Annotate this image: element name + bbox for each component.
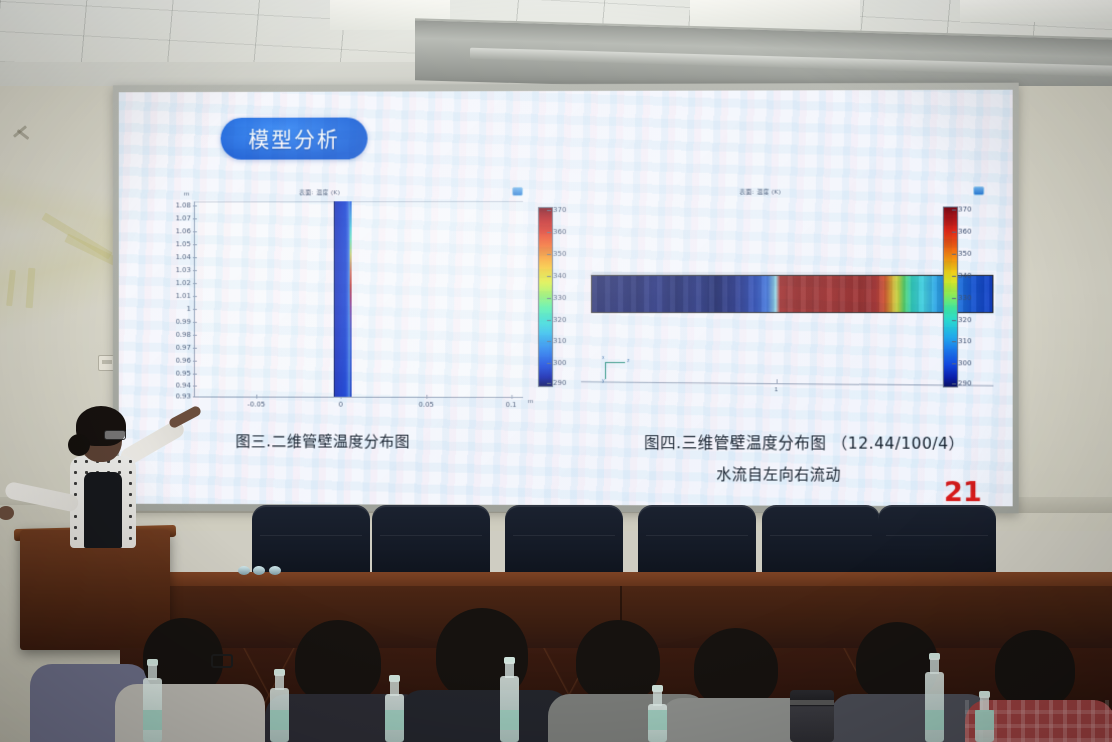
axis-triad-icon: z y x xyxy=(601,359,641,387)
slide-title: 模型分析 xyxy=(248,124,339,154)
chart-2d-ytick: 1.07 xyxy=(176,214,191,222)
chart-2d-ytick: 0.99 xyxy=(176,318,191,326)
caption-figure-4: 图四.三维管壁温度分布图 （12.44/100/4） xyxy=(644,431,965,454)
projection-screen-frame: 模型分析 表面: 温度 (K) m 1.08 1.07 1.06 1.05 1.… xyxy=(113,83,1019,514)
chart-2d-ytick: 1.03 xyxy=(176,266,191,274)
chart-2d-xtick: 0.05 xyxy=(419,401,435,409)
chart-3d-axis-line xyxy=(581,381,993,386)
ceiling-light xyxy=(960,0,1112,22)
chart-2d-ytick: 0.97 xyxy=(176,344,191,352)
ceiling xyxy=(0,0,1112,92)
colorbar-tick: 370 xyxy=(553,206,566,214)
colorbar-tick: 320 xyxy=(958,316,972,324)
chart-2d-temperature-band xyxy=(334,201,351,396)
chart-2d-axis-top xyxy=(195,201,523,202)
chart-2d-colorbar-gradient xyxy=(538,207,553,387)
colorbar-tick: 290 xyxy=(958,379,972,387)
triad-label-x: x xyxy=(602,355,605,361)
chart-2d-ytick: 0.96 xyxy=(176,357,191,365)
chart-2d-ytick: 1 xyxy=(187,305,191,313)
plot-legend-badge-icon xyxy=(973,186,984,195)
audience-glasses xyxy=(211,654,233,668)
chart-2d-ytick: 0.98 xyxy=(176,331,191,339)
chart-3d-title: 表面: 温度 (K) xyxy=(739,187,781,196)
water-bottle xyxy=(500,662,519,742)
colorbar-tick: 310 xyxy=(553,337,566,345)
water-bottle xyxy=(143,664,162,742)
colorbar-tick: 340 xyxy=(958,272,972,280)
colorbar-tick: 320 xyxy=(553,316,566,324)
chart-2d-ytick: 0.95 xyxy=(176,370,191,378)
triad-z-axis xyxy=(605,362,625,363)
chart-2d-title: 表面: 温度 (K) xyxy=(299,187,340,196)
desk-microphones xyxy=(238,566,284,575)
audience-member xyxy=(400,602,570,742)
caption-figure-3: 图三.二维管壁温度分布图 xyxy=(236,430,411,451)
colorbar-tick: 300 xyxy=(958,359,972,367)
presenter-vest xyxy=(84,472,122,548)
water-bottle xyxy=(648,690,667,742)
triad-label-y: y xyxy=(602,378,605,384)
chart-3d-pipe-shading xyxy=(592,276,992,312)
colorbar-tick: 330 xyxy=(958,294,972,302)
lecture-hall-photo: 模型分析 表面: 温度 (K) m 1.08 1.07 1.06 1.05 1.… xyxy=(0,0,1112,742)
slide-number: 21 xyxy=(944,477,982,506)
presenter-hair-bun xyxy=(68,434,90,456)
colorbar-tick: 360 xyxy=(958,228,972,236)
colorbar-tick: 290 xyxy=(553,379,566,387)
chart-2d-axes: 1.08 1.07 1.06 1.05 1.04 1.03 1.02 1.01 … xyxy=(194,201,523,398)
caption-flow-note: 水流自左向右流动 xyxy=(716,463,841,484)
colorbar-tick: 340 xyxy=(553,272,566,280)
thermos-cup xyxy=(790,690,834,742)
colorbar-tick: 360 xyxy=(553,228,566,236)
colorbar-tick: 310 xyxy=(958,337,972,345)
colorbar-tick: 350 xyxy=(958,250,972,258)
chart-2d-wall-temperature: 表面: 温度 (K) m 1.08 1.07 1.06 1.05 1.04 1.… xyxy=(148,187,546,427)
chart-2d-ytick: 1.06 xyxy=(176,227,191,235)
water-bottle xyxy=(975,696,994,742)
water-bottle xyxy=(925,658,944,742)
chart-2d-xlabel: m xyxy=(528,399,533,405)
colorbar-tick: 330 xyxy=(553,294,566,302)
ceiling-light xyxy=(690,0,860,30)
chart-3d-pipe-surface xyxy=(591,275,993,313)
projection-screen: 模型分析 表面: 温度 (K) m 1.08 1.07 1.06 1.05 1.… xyxy=(119,90,1013,507)
chart-2d-ytick: 1.05 xyxy=(176,240,191,248)
chart-2d-xtick: 0 xyxy=(339,401,343,409)
chart-2d-ytick: 1.08 xyxy=(176,201,191,209)
chart-2d-xtick: 0.1 xyxy=(505,401,516,409)
chart-2d-hot-edge xyxy=(350,201,352,396)
water-bottle xyxy=(385,680,404,742)
chart-2d-ytick: 1.02 xyxy=(176,279,191,287)
colorbar-tick: 350 xyxy=(553,250,566,258)
audience-member xyxy=(115,610,265,742)
triad-label-z: z xyxy=(627,358,630,364)
chart-2d-ytick: 1.01 xyxy=(176,292,191,300)
chart-3d-colorbar-gradient xyxy=(943,207,958,388)
colorbar-tick: 370 xyxy=(958,205,972,213)
presentation-slide: 模型分析 表面: 温度 (K) m 1.08 1.07 1.06 1.05 1.… xyxy=(119,90,1013,507)
chart-2d-ylabel: m xyxy=(184,192,189,198)
chart-2d-ytick: 0.93 xyxy=(176,392,191,400)
slide-title-pill: 模型分析 xyxy=(221,117,368,159)
presenter xyxy=(18,404,188,574)
water-bottle xyxy=(270,674,289,742)
chart-3d-axis-tick xyxy=(777,379,778,384)
triad-y-axis xyxy=(605,362,606,379)
colorbar-tick: 300 xyxy=(553,359,566,367)
chart-3d-wall-temperature: 表面: 温度 (K) 1 z y x xyxy=(571,186,993,427)
chart-3d-xlabel: 1 xyxy=(775,387,778,393)
chart-2d-xtick: -0.05 xyxy=(247,401,265,409)
plot-legend-badge-icon xyxy=(512,187,523,196)
presenter-glasses xyxy=(104,430,126,440)
chart-2d-ytick: 0.94 xyxy=(176,382,191,390)
chart-2d-ytick: 1.04 xyxy=(176,253,191,261)
